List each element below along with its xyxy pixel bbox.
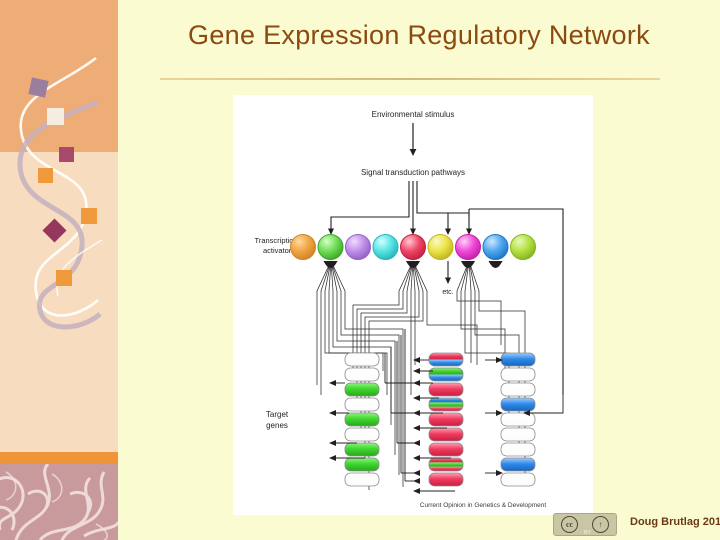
gene-band-blue xyxy=(501,458,535,471)
gene-box[interactable] xyxy=(345,353,379,366)
gene-box[interactable] xyxy=(429,368,463,381)
gene-box[interactable] xyxy=(345,383,379,396)
gene-band-white xyxy=(345,398,379,411)
decorative-sidebar xyxy=(0,0,118,540)
slide-canvas: Gene Expression Regulatory Network Envir… xyxy=(0,0,720,540)
gene-band-red xyxy=(429,383,463,396)
gene-box[interactable] xyxy=(429,458,463,471)
gene-box[interactable] xyxy=(345,428,379,441)
activator-magenta[interactable] xyxy=(456,235,481,260)
activator-green[interactable] xyxy=(318,235,343,260)
activator-cyan[interactable] xyxy=(373,235,398,260)
sidebar-orange-rule xyxy=(0,452,118,464)
gene-band-white xyxy=(345,353,379,366)
cc-by-label: BY xyxy=(584,530,591,536)
square-cream xyxy=(47,108,64,125)
stimulus-arrow-head xyxy=(410,149,417,156)
figure-source-caption: Current Opinion in Genetics & Developmen… xyxy=(420,502,547,509)
regulatory-network-diagram: Environmental stimulus Signal transducti… xyxy=(233,95,593,515)
target-genes-label-1: Target xyxy=(266,410,289,419)
gene-band-white xyxy=(345,428,379,441)
etc-arrow-head xyxy=(445,278,451,285)
gene-box[interactable] xyxy=(345,413,379,426)
square-maroon xyxy=(59,147,74,162)
activator-wire-root xyxy=(489,261,503,268)
gene-box[interactable] xyxy=(345,368,379,381)
gene-box[interactable] xyxy=(501,428,535,441)
gene-box[interactable] xyxy=(501,383,535,396)
gene-band-red xyxy=(429,443,463,456)
gene-band-white xyxy=(501,368,535,381)
gene-band-white xyxy=(501,383,535,396)
activator-blue[interactable] xyxy=(483,235,508,260)
author-credit: Doug Brutlag 2010 xyxy=(630,516,720,528)
gene-box[interactable] xyxy=(501,353,535,366)
gene-band-green xyxy=(429,462,463,467)
signal-bus-arrowheads xyxy=(328,229,472,236)
gene-box[interactable] xyxy=(429,428,463,441)
gene-band-red xyxy=(429,413,463,426)
gene-band-green xyxy=(345,383,379,396)
cc-by-person-icon: ↑ xyxy=(592,516,609,533)
gene-box[interactable] xyxy=(429,353,463,366)
gene-band-green xyxy=(429,368,463,375)
gene-band-blue xyxy=(429,375,463,382)
gene-box[interactable] xyxy=(501,398,535,411)
target-gene-columns xyxy=(345,353,535,486)
square-orange-3 xyxy=(56,270,72,286)
gene-band-green xyxy=(345,413,379,426)
gene-box[interactable] xyxy=(501,368,535,381)
cc-icon: cc xyxy=(561,516,578,533)
gene-box[interactable] xyxy=(429,473,463,486)
activator-yellow[interactable] xyxy=(428,235,453,260)
square-purple-gray xyxy=(28,77,48,97)
activator-yellowgreen[interactable] xyxy=(511,235,536,260)
sidebar-floral-band xyxy=(0,464,118,540)
gene-box[interactable] xyxy=(501,458,535,471)
gene-band-white xyxy=(345,473,379,486)
square-orange-1 xyxy=(38,168,53,183)
gene-band-blue xyxy=(501,398,535,411)
activator-purple[interactable] xyxy=(346,235,371,260)
gene-box[interactable] xyxy=(429,413,463,426)
gene-box[interactable] xyxy=(501,443,535,456)
gene-band-white xyxy=(501,428,535,441)
title-underline-rule xyxy=(160,78,660,80)
gene-band-red xyxy=(429,353,463,360)
gene-band-green xyxy=(429,402,463,407)
gene-band-red xyxy=(429,473,463,486)
gene-box[interactable] xyxy=(345,443,379,456)
gene-band-green xyxy=(345,443,379,456)
gene-box[interactable] xyxy=(345,473,379,486)
figure-panel: Environmental stimulus Signal transducti… xyxy=(233,95,593,515)
gene-band-blue xyxy=(429,398,463,403)
gene-band-red xyxy=(429,428,463,441)
slide-title: Gene Expression Regulatory Network xyxy=(118,20,720,51)
gene-band-blue xyxy=(429,360,463,367)
gene-band-red xyxy=(429,458,463,463)
gene-box[interactable] xyxy=(345,398,379,411)
creative-commons-badge[interactable]: cc ↑ BY xyxy=(553,513,617,536)
gene-band-white xyxy=(345,368,379,381)
gene-band-white xyxy=(501,443,535,456)
activator-red[interactable] xyxy=(401,235,426,260)
signal-transduction-label: Signal transduction pathways xyxy=(361,168,465,177)
environmental-stimulus-label: Environmental stimulus xyxy=(372,110,455,119)
gene-band-green xyxy=(345,458,379,471)
gene-box[interactable] xyxy=(429,383,463,396)
gene-box[interactable] xyxy=(429,398,463,411)
gene-box[interactable] xyxy=(345,458,379,471)
gene-band-white xyxy=(501,473,535,486)
gene-box[interactable] xyxy=(429,443,463,456)
square-orange-2 xyxy=(81,208,97,224)
gene-box[interactable] xyxy=(501,473,535,486)
target-genes-label-2: genes xyxy=(266,421,288,430)
gene-band-blue xyxy=(501,353,535,366)
etc-label: etc. xyxy=(442,289,453,296)
activator-orange[interactable] xyxy=(291,235,316,260)
feedback-loop-line xyxy=(385,329,563,481)
